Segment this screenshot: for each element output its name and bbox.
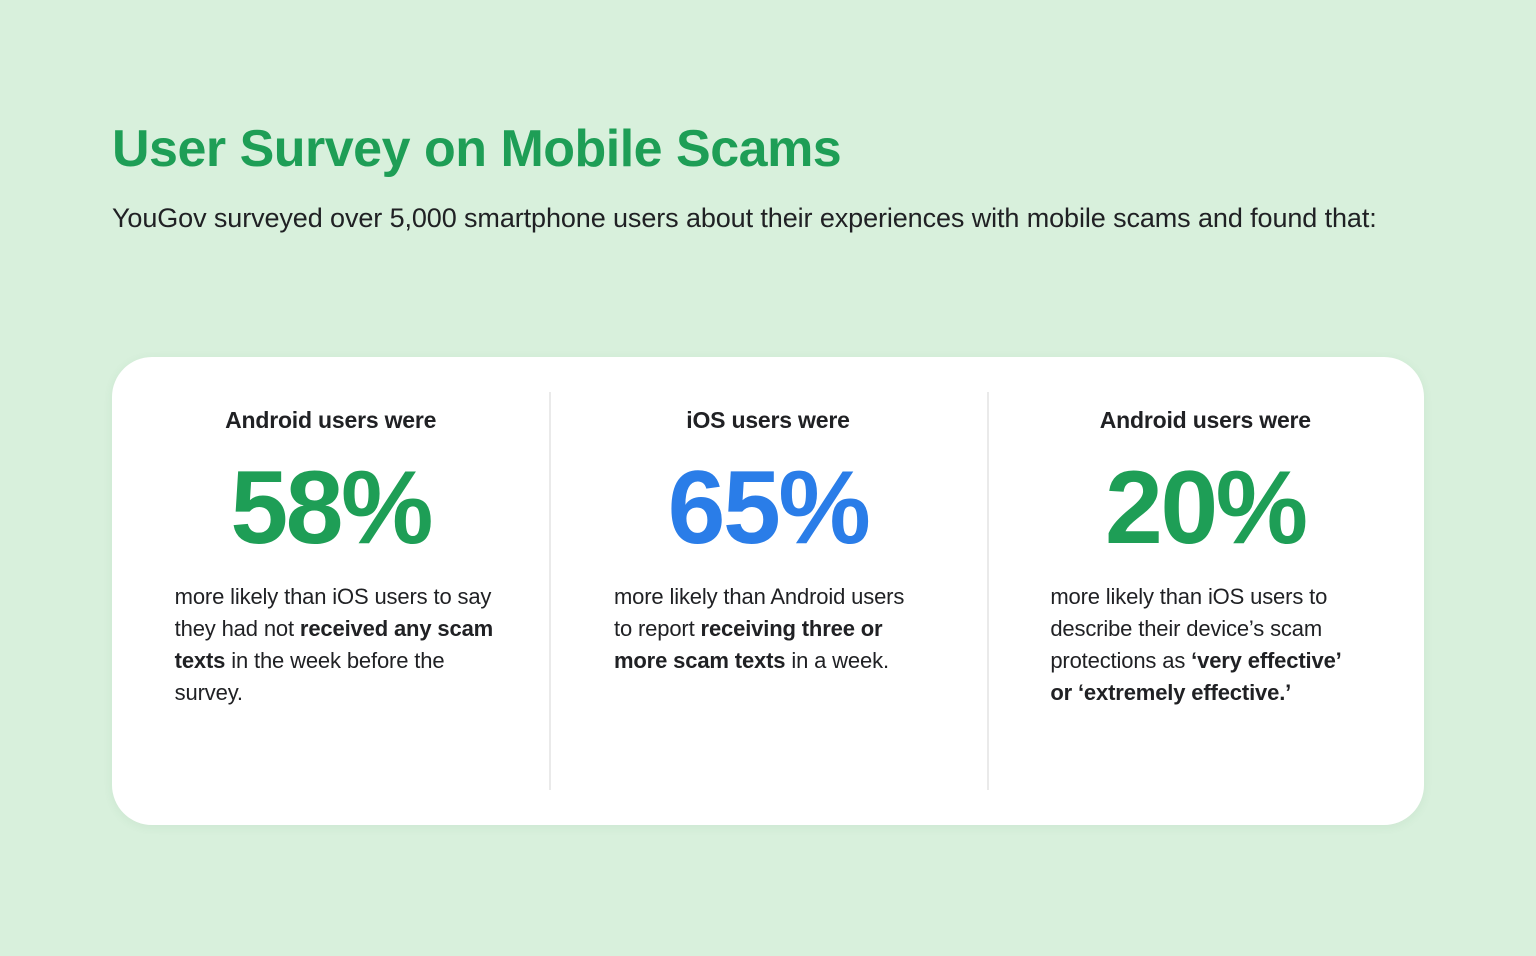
- stat-description: more likely than Android users to report…: [614, 581, 916, 677]
- stats-card: Android users were 58% more likely than …: [112, 357, 1424, 825]
- stat-column-android-58: Android users were 58% more likely than …: [112, 357, 549, 825]
- stat-description: more likely than iOS users to say they h…: [175, 581, 497, 709]
- stat-description-post: in a week.: [785, 648, 889, 673]
- stat-header: Android users were: [225, 405, 436, 435]
- stat-value: 65%: [668, 449, 869, 567]
- stat-header: iOS users were: [686, 405, 849, 435]
- stat-value: 20%: [1105, 449, 1306, 567]
- stat-description: more likely than iOS users to describe t…: [1050, 581, 1356, 709]
- stat-header: Android users were: [1100, 405, 1311, 435]
- infographic-page: User Survey on Mobile Scams YouGov surve…: [0, 0, 1536, 956]
- stat-value: 58%: [230, 449, 431, 567]
- header: User Survey on Mobile Scams YouGov surve…: [112, 118, 1432, 239]
- page-subtitle: YouGov surveyed over 5,000 smartphone us…: [112, 198, 1432, 239]
- stat-column-android-20: Android users were 20% more likely than …: [987, 357, 1424, 825]
- stat-column-ios-65: iOS users were 65% more likely than Andr…: [549, 357, 986, 825]
- page-title: User Survey on Mobile Scams: [112, 118, 1432, 180]
